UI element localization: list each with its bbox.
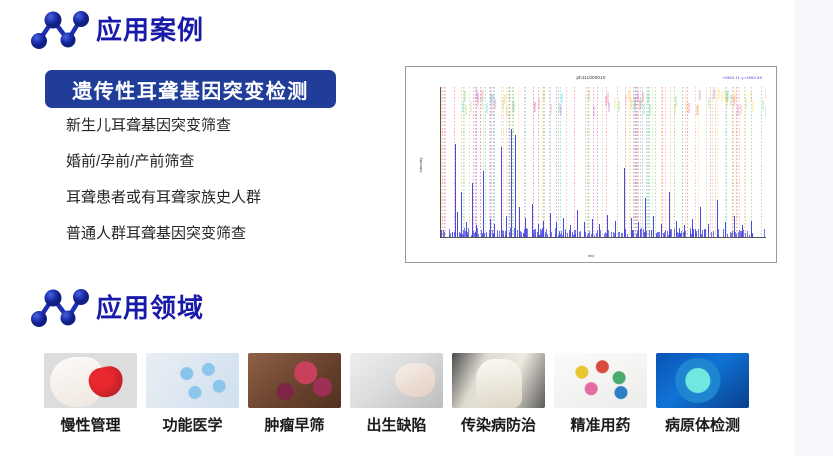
chart-marker-line	[536, 87, 537, 237]
chart-marker-line	[589, 87, 590, 237]
chart-noise-peak	[637, 231, 638, 237]
chart-peak-annotation: SNP4179	[538, 99, 541, 109]
chart-noise-peak	[696, 231, 697, 237]
chart-peak-annotation: SNP9634	[726, 92, 729, 102]
chart-noise-peak	[641, 228, 642, 237]
chart-noise-peak	[701, 234, 702, 237]
chart-noise-peak	[533, 233, 534, 237]
chart-marker-line	[649, 87, 650, 237]
chart-noise-peak	[705, 230, 706, 237]
chart-noise-peak	[484, 233, 485, 237]
chart-peak-annotation: SNP6797	[721, 91, 724, 101]
chart-noise-peak	[745, 233, 746, 237]
chart-noise-peak	[685, 231, 686, 237]
chart-marker-line	[525, 87, 526, 237]
card-label: 传染病防治	[452, 418, 545, 433]
chart-marker-line	[597, 87, 598, 237]
list-item: 普通人群耳聋基因突变筛查	[66, 226, 386, 241]
chart-marker-line	[621, 87, 622, 237]
functional-medicine-photo	[146, 353, 239, 408]
chart-noise-peak	[558, 235, 559, 237]
chart-peak	[461, 192, 462, 237]
chart-peak-annotation: SNP6163	[675, 96, 678, 106]
chart-noise-peak	[574, 233, 575, 237]
chart-noise-peak	[713, 231, 714, 237]
card-label: 功能医学	[146, 418, 239, 433]
chart-noise-peak	[471, 235, 472, 237]
chart-noise-peak	[541, 233, 542, 237]
card-infectious[interactable]: 传染病防治	[452, 353, 545, 433]
chart-noise-peak	[463, 235, 464, 237]
chart-noise-peak	[515, 229, 516, 237]
section-title-cases: 应用案例	[96, 17, 204, 43]
chart-noise-peak	[560, 234, 561, 237]
section-title-fields: 应用领域	[96, 295, 204, 321]
chart-noise-peak	[575, 230, 576, 237]
chart-marker-line	[448, 87, 449, 237]
chart-noise-peak	[764, 229, 765, 237]
chart-noise-peak	[611, 232, 612, 237]
chart-marker-line	[538, 87, 539, 237]
chart-noise-peak	[473, 231, 474, 237]
chart-noise-peak	[520, 231, 521, 237]
chart-marker-line	[692, 87, 693, 237]
chart-noise-peak	[752, 233, 753, 237]
chart-noise-peak	[535, 229, 536, 237]
chart-noise-peak	[493, 233, 494, 237]
chart-noise-peak	[608, 230, 609, 237]
chart-noise-peak	[505, 231, 506, 237]
chart-noise-peak	[645, 235, 646, 237]
chart-marker-line	[494, 87, 495, 237]
chart-noise-peak	[627, 234, 628, 237]
mass-spectrum-chart: ph111000010 +4963.11 y=1893.59 Intensity…	[405, 66, 777, 263]
section-heading-fields: 应用领域	[28, 286, 204, 330]
chart-noise-peak	[661, 232, 662, 237]
chart-peak-annotation: SNP2419	[630, 98, 633, 108]
chart-noise-peak	[669, 232, 670, 237]
chart-noise-peak	[749, 235, 750, 237]
chart-marker-line	[574, 87, 575, 237]
chart-peak-annotation: SNP6065	[639, 100, 642, 110]
chart-marker-line	[614, 87, 615, 237]
chart-noise-peak	[551, 232, 552, 237]
chart-noise-peak	[559, 231, 560, 237]
chart-peak-annotation: SNP3597	[560, 105, 563, 115]
chart-marker-line	[674, 87, 675, 237]
chart-peak	[455, 144, 456, 237]
chart-noise-peak	[741, 231, 742, 237]
molecule-icon	[28, 286, 90, 330]
chart-noise-peak	[476, 232, 477, 237]
card-birth[interactable]: 出生缺陷	[350, 353, 443, 433]
chart-marker-line	[652, 87, 653, 237]
chart-noise-peak	[632, 230, 633, 237]
chart-marker-line	[750, 87, 751, 237]
card-chronic[interactable]: 慢性管理	[44, 353, 137, 433]
chart-noise-peak	[545, 232, 546, 237]
chart-peak	[700, 207, 701, 237]
chart-peak-annotation: SNP1534	[752, 101, 755, 111]
chart-marker-line	[719, 87, 720, 237]
chart-marker-line	[629, 87, 630, 237]
chart-peak-annotation: SNP4944	[718, 89, 721, 99]
chart-peak-annotation: SNP1337	[745, 98, 748, 108]
chart-noise-peak	[657, 232, 658, 237]
chart-peak	[483, 171, 484, 237]
chart-peak-annotation: SNP8285	[465, 105, 468, 115]
chart-peak-annotation: SNP3945	[643, 104, 646, 114]
slide-root: 应用案例 遗传性耳聋基因突变检测 新生儿耳聋基因突变筛查 婚前/孕前/产前筛查 …	[0, 0, 833, 456]
chart-noise-peak	[444, 232, 445, 237]
chart-marker-line	[660, 87, 661, 237]
chart-marker-line	[476, 87, 477, 237]
chart-marker-line	[662, 87, 663, 237]
chart-peak	[592, 219, 593, 237]
chart-marker-line	[473, 87, 474, 237]
chart-marker-line	[712, 87, 713, 237]
chart-noise-peak	[691, 234, 692, 237]
chart-noise-peak	[690, 228, 691, 237]
chart-noise-peak	[659, 232, 660, 237]
chart-marker-line	[726, 87, 727, 237]
chart-noise-peak	[524, 229, 525, 237]
chart-marker-line	[709, 87, 710, 237]
chart-peak-annotation: SNP5323	[506, 106, 509, 116]
chart-peak-annotation: SNP6219	[614, 98, 617, 108]
chart-peak-annotation: SNP3631	[561, 93, 564, 103]
chart-noise-peak	[489, 235, 490, 237]
chart-x-axis-label: m/z	[588, 253, 594, 258]
chart-y-axis-label: Intensity	[418, 157, 423, 172]
card-label: 慢性管理	[44, 418, 137, 433]
chart-noise-peak	[483, 234, 484, 237]
chart-noise-peak	[664, 232, 665, 237]
chart-noise-peak	[580, 231, 581, 237]
chart-marker-line	[765, 87, 766, 237]
application-list: 新生儿耳聋基因突变筛查 婚前/孕前/产前筛查 耳聋患者或有耳聋家族史人群 普通人…	[66, 118, 386, 262]
chart-peak-annotation: SNP2149	[708, 98, 711, 108]
chart-marker-line	[544, 87, 545, 237]
chart-peak-annotation: SNP7134	[607, 93, 610, 103]
chart-peak-annotation: SNP6912	[765, 106, 766, 116]
chart-marker-line	[715, 87, 716, 237]
chart-noise-peak	[555, 234, 556, 237]
chart-peak	[501, 147, 502, 237]
chart-marker-line	[602, 87, 603, 237]
chart-peak-annotation: SNP5025	[512, 101, 515, 111]
chart-noise-peak	[455, 230, 456, 237]
chart-marker-line	[444, 87, 445, 237]
chart-noise-peak	[708, 231, 709, 237]
chart-noise-peak	[679, 228, 680, 237]
chart-noise-peak	[731, 233, 732, 237]
chart-noise-peak	[591, 234, 592, 237]
chart-marker-line	[710, 87, 711, 237]
chart-peak-annotation: SNP7009	[688, 103, 691, 113]
chart-noise-peak	[702, 230, 703, 237]
list-item: 婚前/孕前/产前筛查	[66, 154, 386, 169]
chart-marker-line	[636, 87, 637, 237]
chart-noise-peak	[464, 228, 465, 237]
chart-noise-peak	[743, 230, 744, 237]
chart-plot-area: 0.000.250.500.753,0004,0005,0006,0007,00…	[440, 87, 766, 238]
chart-peak	[472, 183, 473, 237]
chart-peak	[511, 129, 512, 237]
chart-noise-peak	[452, 232, 453, 237]
chart-marker-line	[726, 87, 727, 237]
chart-marker-line	[682, 87, 683, 237]
card-tumor[interactable]: 肿瘤早筛	[248, 353, 341, 433]
chart-noise-peak	[618, 232, 619, 237]
chart-noise-peak	[747, 231, 748, 237]
chart-marker-line	[698, 87, 699, 237]
chart-noise-peak	[477, 228, 478, 237]
infectious-disease-photo	[452, 353, 545, 408]
chart-noise-peak	[509, 232, 510, 237]
chart-noise-peak	[653, 233, 654, 237]
chart-noise-peak	[730, 232, 731, 237]
chart-peak	[515, 135, 516, 237]
chart-noise-peak	[600, 230, 601, 237]
chart-marker-line	[745, 87, 746, 237]
card-label: 肿瘤早筛	[248, 418, 341, 433]
chart-noise-peak	[643, 229, 644, 237]
chart-marker-line	[503, 87, 504, 237]
chart-noise-peak	[711, 232, 712, 237]
chart-noise-peak	[449, 229, 450, 237]
chart-noise-peak	[527, 229, 528, 237]
chart-noise-peak	[452, 232, 453, 237]
chart-title: ph111000010	[576, 75, 605, 80]
chart-noise-peak	[597, 230, 598, 238]
chart-peak-annotation: SNP6040	[737, 105, 740, 115]
chart-noise-peak	[562, 235, 563, 237]
precision-medication-photo	[554, 353, 647, 408]
chart-noise-peak	[677, 232, 678, 237]
chart-noise-peak	[585, 232, 586, 237]
chart-noise-peak	[698, 229, 699, 237]
tumor-screening-photo	[248, 353, 341, 408]
chart-peak-annotation: SNP9627	[740, 104, 743, 114]
chart-noise-peak	[569, 230, 570, 237]
chart-noise-peak	[468, 228, 469, 237]
chart-marker-line	[585, 87, 586, 237]
chart-noise-peak	[649, 230, 650, 237]
chart-marker-line	[489, 87, 490, 237]
chart-noise-peak	[718, 229, 719, 237]
chart-noise-peak	[613, 232, 614, 237]
pathogen-detection-photo	[656, 353, 749, 408]
molecule-icon	[28, 8, 90, 52]
chart-peak-annotation: SNP4977	[765, 89, 766, 99]
chart-marker-line	[491, 87, 492, 237]
chart-marker-line	[587, 87, 588, 237]
card-label: 出生缺陷	[350, 418, 443, 433]
chart-noise-peak	[502, 230, 503, 237]
chart-noise-peak	[596, 233, 597, 237]
status-badge: 遗传性耳聋基因突变检测	[45, 70, 336, 108]
chart-marker-line	[736, 87, 737, 237]
chart-noise-peak	[486, 232, 487, 237]
chart-noise-peak	[615, 234, 616, 237]
chart-noise-peak	[621, 233, 622, 237]
chart-noise-peak	[683, 232, 684, 238]
chart-marker-line	[475, 87, 476, 237]
chart-peak	[624, 168, 625, 237]
list-item: 耳聋患者或有耳聋家族史人群	[66, 190, 386, 205]
chart-marker-line	[670, 87, 671, 237]
chart-marker-line	[721, 87, 722, 237]
chart-peak-annotation: SNP3531	[699, 90, 702, 100]
chart-noise-peak	[727, 234, 728, 237]
chart-legend: +4963.11 y=1893.59	[722, 75, 762, 80]
card-pathogen[interactable]: 病原体检测	[656, 353, 749, 433]
right-edge-band	[795, 0, 833, 456]
section-heading-cases: 应用案例	[28, 8, 204, 52]
chart-noise-peak	[490, 230, 491, 237]
chart-marker-line	[730, 87, 731, 237]
chart-noise-peak	[459, 232, 460, 237]
chart-noise-peak	[695, 233, 696, 237]
chronic-care-photo	[44, 353, 137, 408]
chart-noise-peak	[565, 235, 566, 237]
chart-marker-line	[480, 87, 481, 237]
chart-peak-annotation: SNP9880	[608, 102, 611, 112]
badge-label: 遗传性耳聋基因突变检测	[72, 75, 309, 104]
card-precision-drug[interactable]: 精准用药	[554, 353, 647, 433]
chart-marker-line	[665, 87, 666, 237]
chart-noise-peak	[503, 231, 504, 237]
chart-marker-line	[706, 87, 707, 237]
chart-noise-peak	[537, 232, 538, 237]
chart-marker-line	[442, 87, 443, 237]
chart-noise-peak	[494, 234, 495, 237]
chart-noise-peak	[577, 233, 578, 237]
chart-noise-peak	[441, 230, 442, 237]
list-item: 新生儿耳聋基因突变筛查	[66, 118, 386, 133]
chart-noise-peak	[723, 235, 724, 237]
chart-noise-peak	[497, 234, 498, 237]
chart-noise-peak	[462, 234, 463, 237]
chart-noise-peak	[738, 232, 739, 237]
chart-noise-peak	[607, 233, 608, 237]
chart-noise-peak	[676, 228, 677, 237]
application-field-cards: 慢性管理 功能医学 肿瘤早筛 出生缺陷 传染病防治 精准用药 病原体检测	[44, 353, 749, 433]
chart-marker-line	[662, 87, 663, 237]
chart-noise-peak	[604, 234, 605, 237]
chart-noise-peak	[517, 230, 518, 237]
card-label: 精准用药	[554, 418, 647, 433]
chart-marker-line	[605, 87, 606, 237]
chart-noise-peak	[681, 234, 682, 237]
chart-noise-peak	[572, 234, 573, 237]
chart-noise-peak	[499, 231, 500, 237]
chart-marker-line	[445, 87, 446, 237]
chart-peak-annotation: SNP6203	[462, 102, 465, 112]
chart-peak-annotation: SNP7047	[625, 95, 628, 105]
birth-defect-photo	[350, 353, 443, 408]
chart-marker-line	[733, 87, 734, 237]
chart-noise-peak	[542, 228, 543, 237]
chart-marker-line	[478, 87, 479, 237]
chart-noise-peak	[589, 231, 590, 237]
card-label: 病原体检测	[656, 418, 749, 433]
chart-noise-peak	[671, 229, 672, 237]
card-functional[interactable]: 功能医学	[146, 353, 239, 433]
chart-noise-peak	[547, 234, 548, 237]
chart-marker-line	[647, 87, 648, 237]
chart-noise-peak	[567, 233, 568, 237]
chart-noise-peak	[651, 230, 652, 237]
chart-peak-annotation: SNP7389	[593, 106, 596, 116]
chart-marker-line	[655, 87, 656, 237]
chart-peak-annotation: SNP8615	[477, 98, 480, 108]
chart-peak-annotation: SNP1245	[464, 91, 467, 101]
chart-marker-line	[708, 87, 709, 237]
chart-noise-peak	[572, 232, 573, 237]
chart-marker-line	[566, 87, 567, 237]
chart-noise-peak	[622, 233, 623, 237]
chart-marker-line	[661, 87, 662, 237]
chart-noise-peak	[736, 234, 737, 237]
